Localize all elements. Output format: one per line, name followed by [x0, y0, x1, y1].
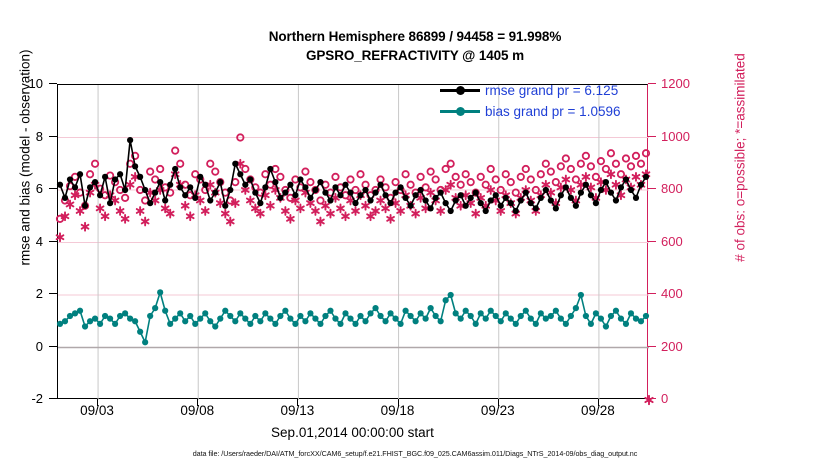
y-axis-left-label: 10	[3, 77, 43, 90]
title-line-2: GPSRO_REFRACTIVITY @ 1405 m	[0, 46, 830, 65]
y-axis-right-title: # of obs: o=possible; *=assimilated	[733, 0, 748, 323]
legend-marker-rmse	[440, 89, 480, 92]
y-axis-left-label: 8	[3, 130, 43, 143]
plot-canvas: Northern Hemisphere 86899 / 94458 = 91.9…	[0, 0, 830, 470]
legend-item-bias: bias grand pr = 1.0596	[440, 101, 650, 122]
y-axis-right-label: 0	[661, 392, 668, 405]
y-axis-right-label: 1000	[661, 130, 690, 143]
y-axis-left-tick	[49, 136, 57, 137]
y-axis-left-tick	[49, 83, 57, 84]
y-axis-right-tick	[648, 346, 656, 347]
data-series-layer	[58, 85, 647, 398]
x-axis-label: 09/08	[162, 403, 232, 418]
data-file-path: data file: /Users/raeder/DAI/ATM_forcXX/…	[0, 449, 830, 458]
y-axis-right-label: 1200	[661, 77, 690, 90]
y-axis-left-tick	[49, 346, 57, 347]
x-axis-label: 09/13	[262, 403, 332, 418]
y-axis-left-title: rmse and bias (model - observation)	[18, 0, 33, 323]
y-axis-right-label: 800	[661, 182, 683, 195]
plot-area	[57, 84, 648, 399]
y-axis-left-tick	[49, 398, 57, 399]
y-axis-right-label: 600	[661, 235, 683, 248]
x-axis-title: Sep.01,2014 00:00:00 start	[57, 425, 648, 440]
y-axis-right-tick	[648, 241, 656, 242]
y-axis-left-label: -2	[3, 392, 43, 405]
title-line-1: Northern Hemisphere 86899 / 94458 = 91.9…	[0, 27, 830, 46]
y-axis-left-label: 2	[3, 287, 43, 300]
y-axis-left-label: 0	[3, 340, 43, 353]
x-axis-label: 09/28	[563, 403, 633, 418]
legend-label-bias: bias grand pr = 1.0596	[485, 101, 620, 122]
y-axis-left-tick	[49, 293, 57, 294]
x-axis-label: 09/23	[463, 403, 533, 418]
legend-label-rmse: rmse grand pr = 6.125	[485, 80, 618, 101]
y-axis-right-tick	[648, 188, 656, 189]
x-axis-label: 09/18	[363, 403, 433, 418]
y-axis-left-label: 6	[3, 182, 43, 195]
legend-item-rmse: rmse grand pr = 6.125	[440, 80, 650, 101]
y-axis-right-tick	[648, 136, 656, 137]
x-axis-label: 09/03	[62, 403, 132, 418]
legend: rmse grand pr = 6.125 bias grand pr = 1.…	[440, 80, 650, 122]
y-axis-right-label: 200	[661, 340, 683, 353]
y-axis-right-tick	[648, 398, 656, 399]
y-axis-left-label: 4	[3, 235, 43, 248]
y-axis-left-tick	[49, 241, 57, 242]
y-axis-right-label: 400	[661, 287, 683, 300]
legend-marker-bias	[440, 110, 480, 113]
page-title: Northern Hemisphere 86899 / 94458 = 91.9…	[0, 27, 830, 65]
y-axis-left-tick	[49, 188, 57, 189]
y-axis-right-tick	[648, 293, 656, 294]
